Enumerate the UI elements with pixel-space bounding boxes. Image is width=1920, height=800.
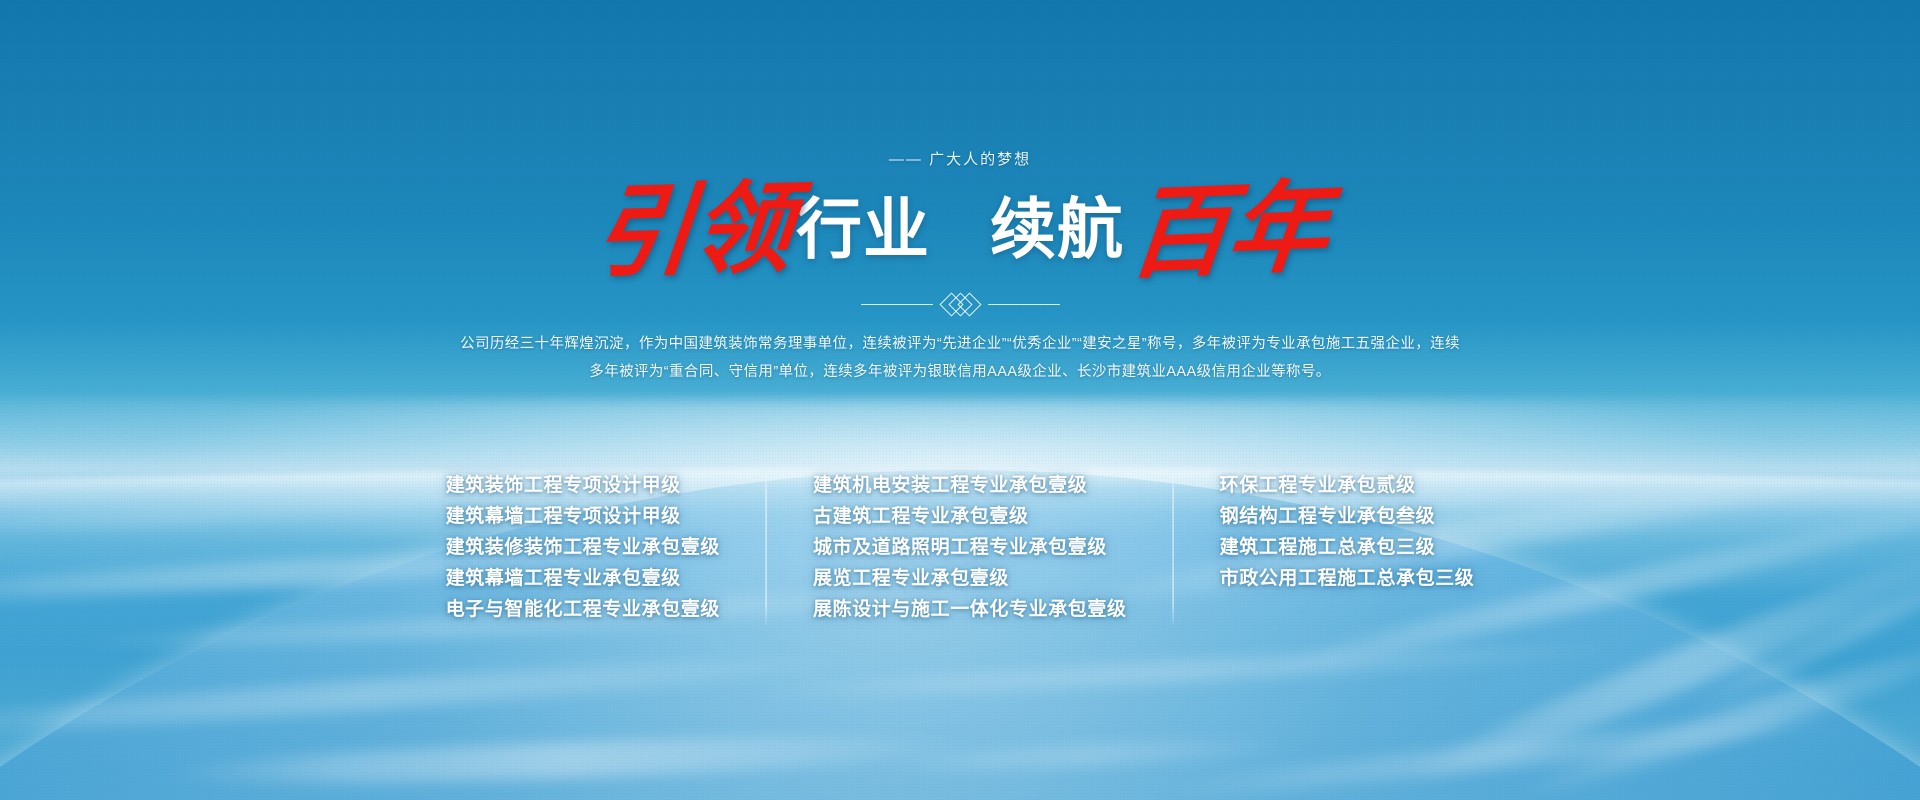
qualifications-list: 建筑装饰工程专项设计甲级 建筑幕墙工程专项设计甲级 建筑装修装饰工程专业承包壹级… — [416, 470, 1505, 625]
qualification-item: 建筑幕墙工程专业承包壹级 — [446, 563, 720, 594]
qualification-column-3: 环保工程专业承包贰级 钢结构工程专业承包叁级 建筑工程施工总承包三级 市政公用工… — [1190, 470, 1505, 594]
diamond-divider — [0, 296, 1920, 313]
divider-line-left — [861, 304, 933, 305]
diamond-group — [947, 296, 974, 313]
qualification-item: 钢结构工程专业承包叁级 — [1220, 501, 1475, 532]
headline-part-lead-red: 引领 — [589, 177, 795, 282]
description-line: 公司历经三十年辉煌沉淀，作为中国建筑装饰常务理事单位，连续被评为“先进企业”“优… — [425, 330, 1495, 358]
qualification-column-2: 建筑机电安装工程专业承包壹级 古建筑工程专业承包壹级 城市及道路照明工程专业承包… — [783, 470, 1157, 625]
description-line: 多年被评为“重合同、守信用”单位，连续多年被评为银联信用AAA级企业、长沙市建筑… — [425, 358, 1495, 386]
qualification-item: 建筑装饰工程专项设计甲级 — [446, 470, 720, 501]
qualification-item: 古建筑工程专业承包壹级 — [813, 501, 1127, 532]
qualification-item: 展陈设计与施工一体化专业承包壹级 — [813, 594, 1127, 625]
qualification-item: 电子与智能化工程专业承包壹级 — [446, 594, 720, 625]
qualification-item: 建筑机电安装工程专业承包壹级 — [813, 470, 1127, 501]
banner-content: —— 广大人的梦想 引领 行业 续航 百年 公司历经三十年辉煌沉淀，作为中国建筑… — [0, 0, 1920, 800]
qualification-item: 建筑装修装饰工程专业承包壹级 — [446, 532, 720, 563]
qualification-item: 建筑幕墙工程专项设计甲级 — [446, 501, 720, 532]
headline: 引领 行业 续航 百年 — [0, 176, 1920, 284]
qualification-item: 环保工程专业承包贰级 — [1220, 470, 1475, 501]
qualification-item: 建筑工程施工总承包三级 — [1220, 532, 1475, 563]
headline-part-continue-white: 续航 — [984, 197, 1130, 263]
column-divider — [766, 474, 767, 625]
company-description: 公司历经三十年辉煌沉淀，作为中国建筑装饰常务理事单位，连续被评为“先进企业”“优… — [425, 330, 1495, 386]
column-divider — [1173, 474, 1174, 625]
qualification-column-1: 建筑装饰工程专项设计甲级 建筑幕墙工程专项设计甲级 建筑装修装饰工程专业承包壹级… — [416, 470, 750, 625]
headline-part-century-red: 百年 — [1124, 176, 1331, 283]
divider-line-right — [988, 304, 1060, 305]
hero-banner: —— 广大人的梦想 引领 行业 续航 百年 公司历经三十年辉煌沉淀，作为中国建筑… — [0, 0, 1920, 800]
qualification-item: 展览工程专业承包壹级 — [813, 563, 1127, 594]
headline-part-industry-white: 行业 — [790, 197, 936, 263]
qualification-item: 市政公用工程施工总承包三级 — [1220, 563, 1475, 594]
qualification-item: 城市及道路照明工程专业承包壹级 — [813, 532, 1127, 563]
eyebrow-tagline: —— 广大人的梦想 — [0, 148, 1920, 169]
